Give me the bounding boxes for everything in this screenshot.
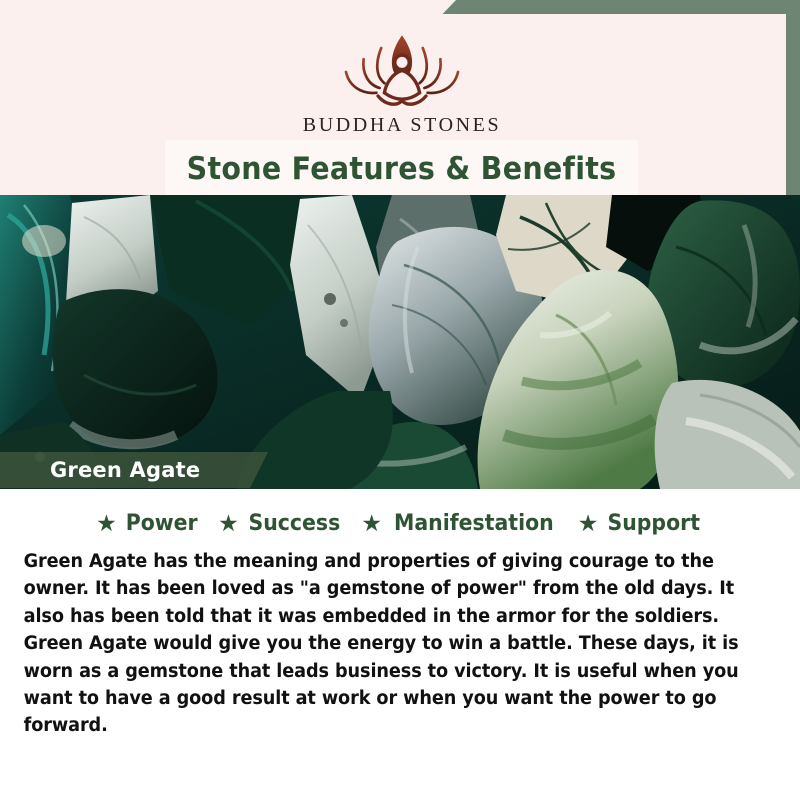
brand-name: BUDDHA STONES: [303, 114, 501, 137]
stone-name-label: Green Agate: [0, 458, 200, 482]
title-panel: Stone Features & Benefits: [165, 140, 638, 197]
inner-card: BUDDHA STONES Stone Features & Benefits: [18, 14, 786, 754]
stone-description: Green Agate has the meaning and properti…: [16, 548, 749, 740]
feature-label: Success: [248, 511, 340, 536]
star-icon: ★: [218, 512, 239, 535]
content-card: ★ Power ★ Success ★ Manifestation ★ Supp…: [0, 489, 800, 800]
feature-manifestation: ★ Manifestation: [361, 511, 559, 536]
lotus-meditation-figure-icon: [322, 24, 482, 112]
feature-power: ★ Power: [96, 511, 200, 536]
poster-root: BUDDHA STONES Stone Features & Benefits: [0, 0, 800, 800]
star-icon: ★: [96, 512, 117, 535]
stone-photo: [0, 195, 800, 489]
feature-label: Power: [125, 511, 197, 536]
stone-name-banner: Green Agate: [0, 452, 268, 488]
page-title: Stone Features & Benefits: [187, 151, 617, 187]
star-icon: ★: [578, 512, 599, 535]
features-row: ★ Power ★ Success ★ Manifestation ★ Supp…: [16, 511, 784, 536]
star-icon: ★: [361, 512, 382, 535]
feature-label: Manifestation: [394, 511, 554, 536]
feature-success: ★ Success: [218, 511, 343, 536]
feature-label: Support: [608, 511, 701, 536]
brand-logo-block: BUDDHA STONES: [18, 24, 786, 150]
feature-support: ★ Support: [578, 511, 704, 536]
stone-photo-illustration: [0, 195, 800, 489]
